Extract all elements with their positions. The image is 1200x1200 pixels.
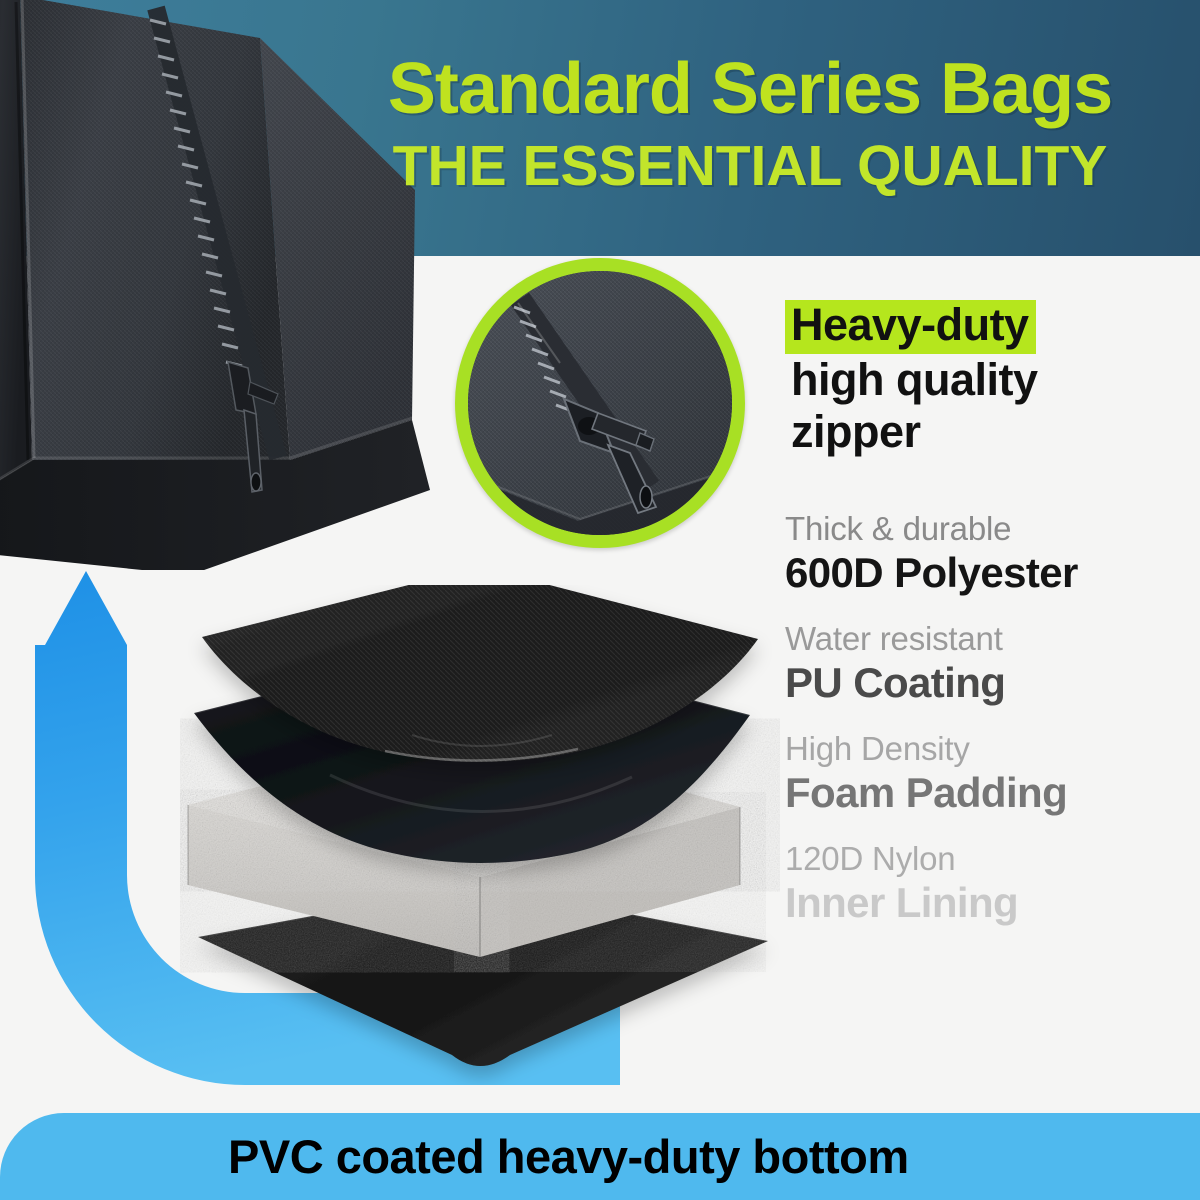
- heavy-duty-highlight-row: Heavy-duty: [785, 300, 1036, 354]
- infographic-canvas: Standard Series Bags THE ESSENTIAL QUALI…: [0, 0, 1200, 1200]
- spec-polyester: Thick & durable 600D Polyester: [785, 510, 1185, 596]
- spec-inner-lining-value: Inner Lining: [785, 879, 1185, 926]
- material-layer-stack: [180, 585, 780, 1085]
- spec-pu-coating: Water resistant PU Coating: [785, 620, 1185, 706]
- bag-product-photo: [0, 0, 460, 570]
- zipper-feature-block: Heavy-duty high quality zipper: [785, 300, 1185, 458]
- bottom-banner-label: PVC coated heavy-duty bottom: [228, 1133, 909, 1180]
- spec-foam-padding-label: High Density: [785, 730, 1185, 769]
- zipper-feature-line3: zipper: [785, 406, 1185, 458]
- spec-polyester-label: Thick & durable: [785, 510, 1185, 549]
- heavy-duty-highlight: Heavy-duty: [785, 300, 1036, 354]
- spec-polyester-value: 600D Polyester: [785, 549, 1185, 596]
- feature-text-column: Heavy-duty high quality zipper Thick & d…: [785, 300, 1185, 950]
- zipper-feature-line2: high quality: [785, 354, 1185, 406]
- spec-pu-coating-value: PU Coating: [785, 659, 1185, 706]
- spec-foam-padding: High Density Foam Padding: [785, 730, 1185, 816]
- spec-inner-lining-label: 120D Nylon: [785, 840, 1185, 879]
- bottom-banner: PVC coated heavy-duty bottom: [0, 1113, 1200, 1200]
- spec-foam-padding-value: Foam Padding: [785, 769, 1185, 816]
- spec-inner-lining: 120D Nylon Inner Lining: [785, 840, 1185, 926]
- zipper-closeup-photo: [455, 258, 745, 548]
- spec-pu-coating-label: Water resistant: [785, 620, 1185, 659]
